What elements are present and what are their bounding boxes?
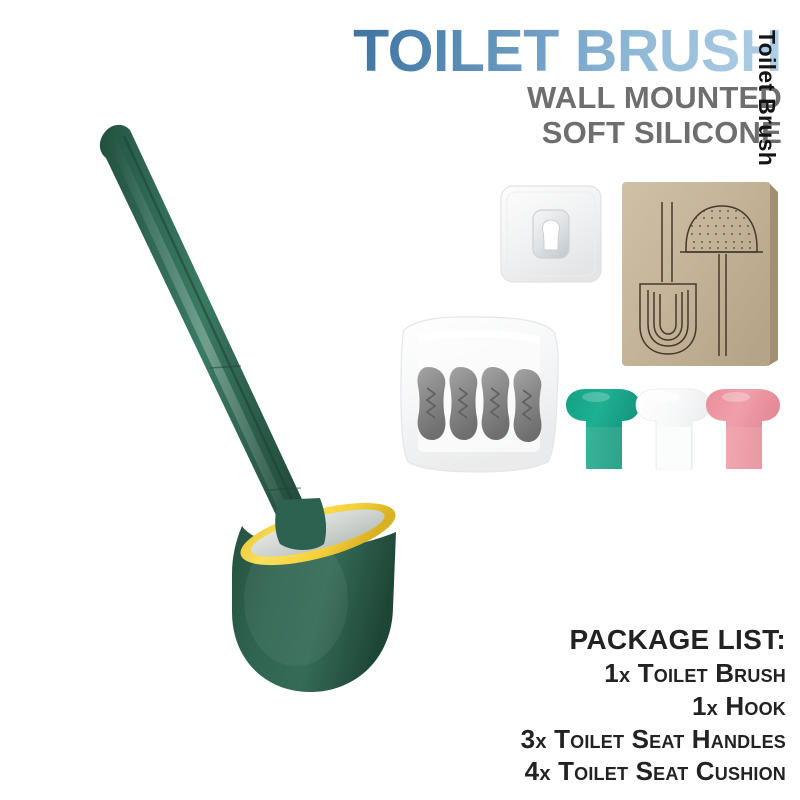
package-item-label: Toilet Seat Cushion bbox=[558, 756, 786, 786]
carton-side-text: Toilet Brush bbox=[753, 26, 780, 190]
package-item-x: x bbox=[535, 731, 546, 753]
package-item-qty: 1 bbox=[692, 691, 707, 721]
package-item-x: x bbox=[539, 763, 550, 785]
brush-neck-front bbox=[275, 498, 326, 550]
package-list: PACKAGE LIST: 1x Toilet Brush 1x Hook 3x… bbox=[521, 622, 786, 788]
hook-sticker bbox=[497, 182, 605, 286]
package-list-item: 1x Toilet Brush bbox=[521, 657, 786, 690]
toilet-seat-handles-group bbox=[566, 383, 780, 473]
package-item-x: x bbox=[619, 665, 630, 687]
package-item-qty: 3 bbox=[521, 724, 536, 754]
package-item-label: Toilet Brush bbox=[638, 658, 786, 688]
product-listing-image: TOILET BRUSH WALL MOUNTED SOFT SILICONE bbox=[0, 0, 800, 800]
package-list-item: 4x Toilet Seat Cushion bbox=[521, 755, 786, 788]
package-list-item: 3x Toilet Seat Handles bbox=[521, 723, 786, 756]
handle-teal bbox=[566, 389, 640, 469]
package-item-x: x bbox=[707, 698, 718, 720]
package-list-item: 1x Hook bbox=[521, 690, 786, 723]
handle-white bbox=[636, 389, 710, 469]
package-item-label: Toilet Seat Handles bbox=[554, 724, 786, 754]
package-item-qty: 4 bbox=[525, 756, 540, 786]
package-list-title: PACKAGE LIST: bbox=[521, 622, 786, 657]
carton-box: Toilet Brush bbox=[618, 178, 782, 370]
page-title: TOILET BRUSH bbox=[182, 22, 782, 81]
brush-handle-rod bbox=[100, 125, 328, 565]
cushion-bag bbox=[396, 312, 562, 476]
handle-pink bbox=[706, 389, 780, 469]
package-item-label: Hook bbox=[725, 691, 786, 721]
package-item-qty: 1 bbox=[604, 658, 619, 688]
